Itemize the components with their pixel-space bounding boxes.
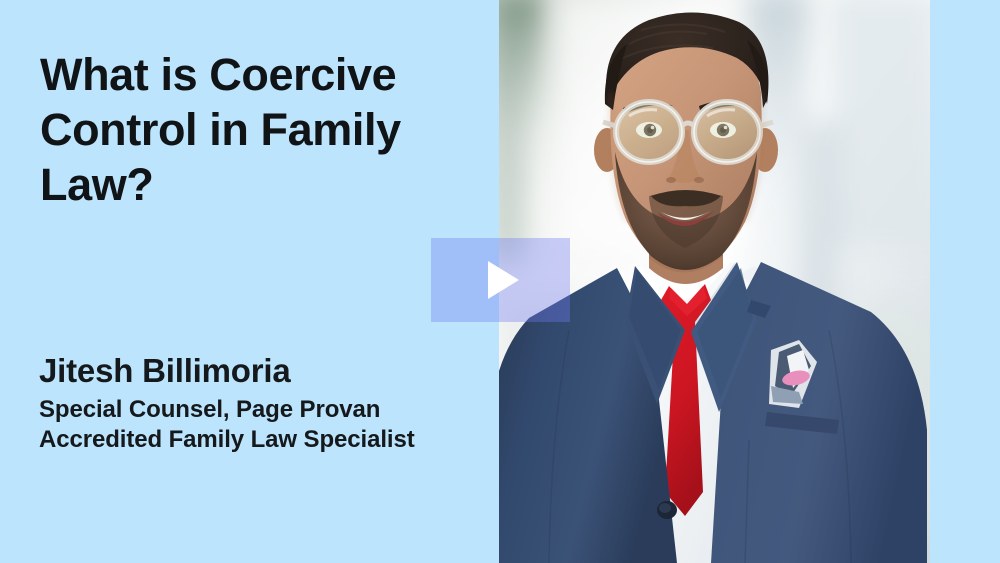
- speaker-name: Jitesh Billimoria: [39, 352, 499, 391]
- title-panel: What is Coercive Control in Family Law? …: [0, 0, 499, 563]
- speaker-role: Special Counsel, Page Provan Accredited …: [39, 395, 499, 455]
- play-button[interactable]: [431, 238, 570, 322]
- play-triangle-icon: [488, 261, 519, 299]
- video-thumbnail-card: What is Coercive Control in Family Law? …: [0, 0, 1000, 563]
- video-title: What is Coercive Control in Family Law?: [40, 48, 480, 213]
- title-block: What is Coercive Control in Family Law?: [40, 48, 480, 213]
- speaker-block: Jitesh Billimoria Special Counsel, Page …: [39, 352, 499, 455]
